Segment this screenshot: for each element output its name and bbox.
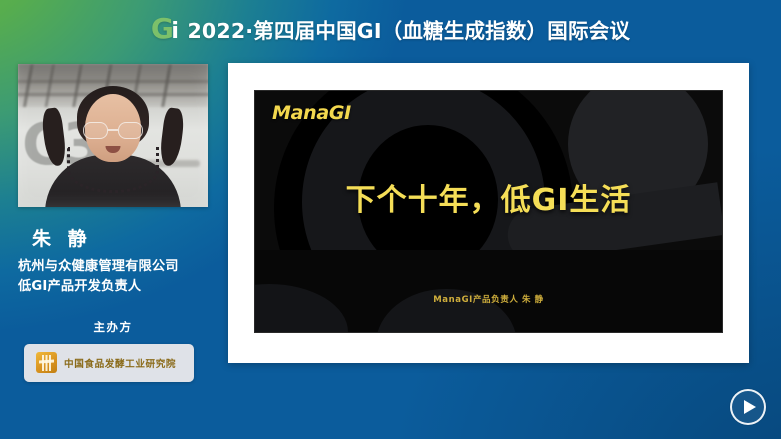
- play-icon: [744, 400, 756, 414]
- speaker-video-thumbnail[interactable]: C3: [18, 64, 208, 207]
- logo-g-letter: G: [151, 15, 173, 43]
- speaker-affiliation: 杭州与众健康管理有限公司 低GI产品开发负责人: [18, 257, 208, 297]
- organizer-name: 中国食品发酵工业研究院: [64, 356, 176, 370]
- webinar-player-stage: G i 2022·第四届中国GI（血糖生成指数）国际会议 C3: [0, 0, 781, 439]
- organizer-label: 主办方: [18, 319, 208, 335]
- speaker-role: 低GI产品开发负责人: [18, 277, 208, 297]
- presentation-slide: ManaGI 下个十年，低GI生活 ManaGI产品负责人 朱 静: [254, 90, 723, 333]
- page-title: 2022·第四届中国GI（血糖生成指数）国际会议: [187, 14, 630, 44]
- video-haze-overlay: [18, 64, 208, 207]
- page-header: G i 2022·第四届中国GI（血糖生成指数）国际会议: [0, 0, 781, 57]
- speaker-company: 杭州与众健康管理有限公司: [18, 257, 208, 277]
- organizer-card: 中国食品发酵工业研究院: [24, 344, 194, 382]
- play-button[interactable]: [730, 389, 766, 425]
- slide-brand-logo: ManaGI: [272, 102, 351, 124]
- speaker-panel: C3 朱 静 杭州与众健康管理有限公司 低GI产品开发负责人: [18, 64, 208, 382]
- speaker-name: 朱 静: [18, 224, 208, 251]
- gi-conference-logo: G i: [151, 15, 179, 43]
- slide-subtitle: ManaGI产品负责人 朱 静: [255, 293, 722, 305]
- slide-title: 下个十年，低GI生活: [255, 175, 722, 219]
- slide-panel[interactable]: ManaGI 下个十年，低GI生活 ManaGI产品负责人 朱 静: [228, 63, 749, 363]
- logo-i-letter: i: [171, 21, 178, 43]
- institute-emblem-icon: [36, 352, 57, 373]
